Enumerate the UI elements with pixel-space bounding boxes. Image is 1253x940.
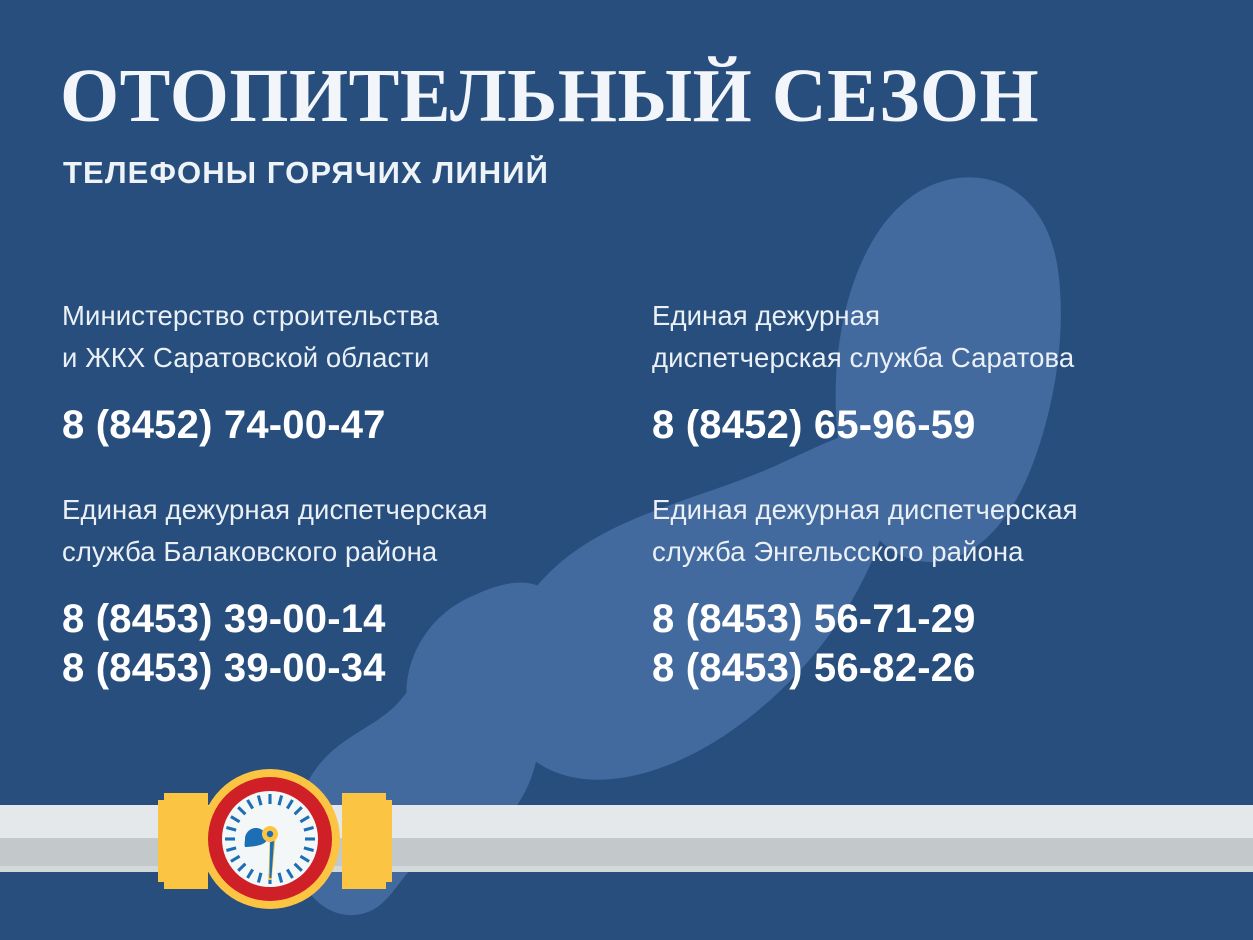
contact-block-engels-eds: Единая дежурная диспетчерская служба Энг… bbox=[652, 489, 1202, 692]
phone-list: 8 (8452) 65-96-59 bbox=[652, 401, 1202, 450]
phone-number[interactable]: 8 (8453) 56-82-26 bbox=[652, 644, 1202, 693]
phone-number[interactable]: 8 (8453) 39-00-34 bbox=[62, 644, 652, 693]
page-title: ОТОПИТЕЛЬНЫЙ СЕЗОН bbox=[60, 58, 1210, 134]
organization-name: Единая дежурная диспетчерская служба Энг… bbox=[652, 489, 1202, 573]
gauge-hub-center bbox=[267, 831, 273, 837]
phone-number[interactable]: 8 (8452) 74-00-47 bbox=[62, 401, 652, 450]
phone-list: 8 (8453) 39-00-14 8 (8453) 39-00-34 bbox=[62, 595, 652, 693]
organization-name-line: Единая дежурная диспетчерская bbox=[652, 489, 1202, 531]
organization-name-line: и ЖКХ Саратовской области bbox=[62, 337, 652, 379]
organization-name: Единая дежурная диспетчерская служба Бал… bbox=[62, 489, 652, 573]
contacts-grid: Министерство строительства и ЖКХ Саратов… bbox=[62, 295, 1202, 693]
contact-block-balakovo-eds: Единая дежурная диспетчерская служба Бал… bbox=[62, 489, 652, 692]
gauge-dial bbox=[200, 769, 340, 909]
poster-header: ОТОПИТЕЛЬНЫЙ СЕЗОН ТЕЛЕФОНЫ ГОРЯЧИХ ЛИНИ… bbox=[60, 58, 1210, 190]
organization-name-line: Единая дежурная bbox=[652, 295, 1202, 337]
organization-name-line: Единая дежурная диспетчерская bbox=[62, 489, 652, 531]
phone-number[interactable]: 8 (8453) 56-71-29 bbox=[652, 595, 1202, 644]
phone-list: 8 (8452) 74-00-47 bbox=[62, 401, 652, 450]
contact-block-saratov-eds: Единая дежурная диспетчерская служба Сар… bbox=[652, 295, 1202, 449]
pressure-gauge-illustration bbox=[150, 760, 400, 920]
contact-block-ministry: Министерство строительства и ЖКХ Саратов… bbox=[62, 295, 652, 449]
phone-number[interactable]: 8 (8453) 39-00-14 bbox=[62, 595, 652, 644]
poster-root: ОТОПИТЕЛЬНЫЙ СЕЗОН ТЕЛЕФОНЫ ГОРЯЧИХ ЛИНИ… bbox=[0, 0, 1253, 940]
organization-name-line: служба Балаковского района bbox=[62, 531, 652, 573]
organization-name-line: Министерство строительства bbox=[62, 295, 652, 337]
organization-name-line: служба Энгельсского района bbox=[652, 531, 1202, 573]
page-subtitle: ТЕЛЕФОНЫ ГОРЯЧИХ ЛИНИЙ bbox=[63, 156, 1210, 190]
organization-name-line: диспетчерская служба Саратова bbox=[652, 337, 1202, 379]
pipe-flange-right bbox=[342, 793, 392, 889]
phone-number[interactable]: 8 (8452) 65-96-59 bbox=[652, 401, 1202, 450]
organization-name: Министерство строительства и ЖКХ Саратов… bbox=[62, 295, 652, 379]
organization-name: Единая дежурная диспетчерская служба Сар… bbox=[652, 295, 1202, 379]
phone-list: 8 (8453) 56-71-29 8 (8453) 56-82-26 bbox=[652, 595, 1202, 693]
